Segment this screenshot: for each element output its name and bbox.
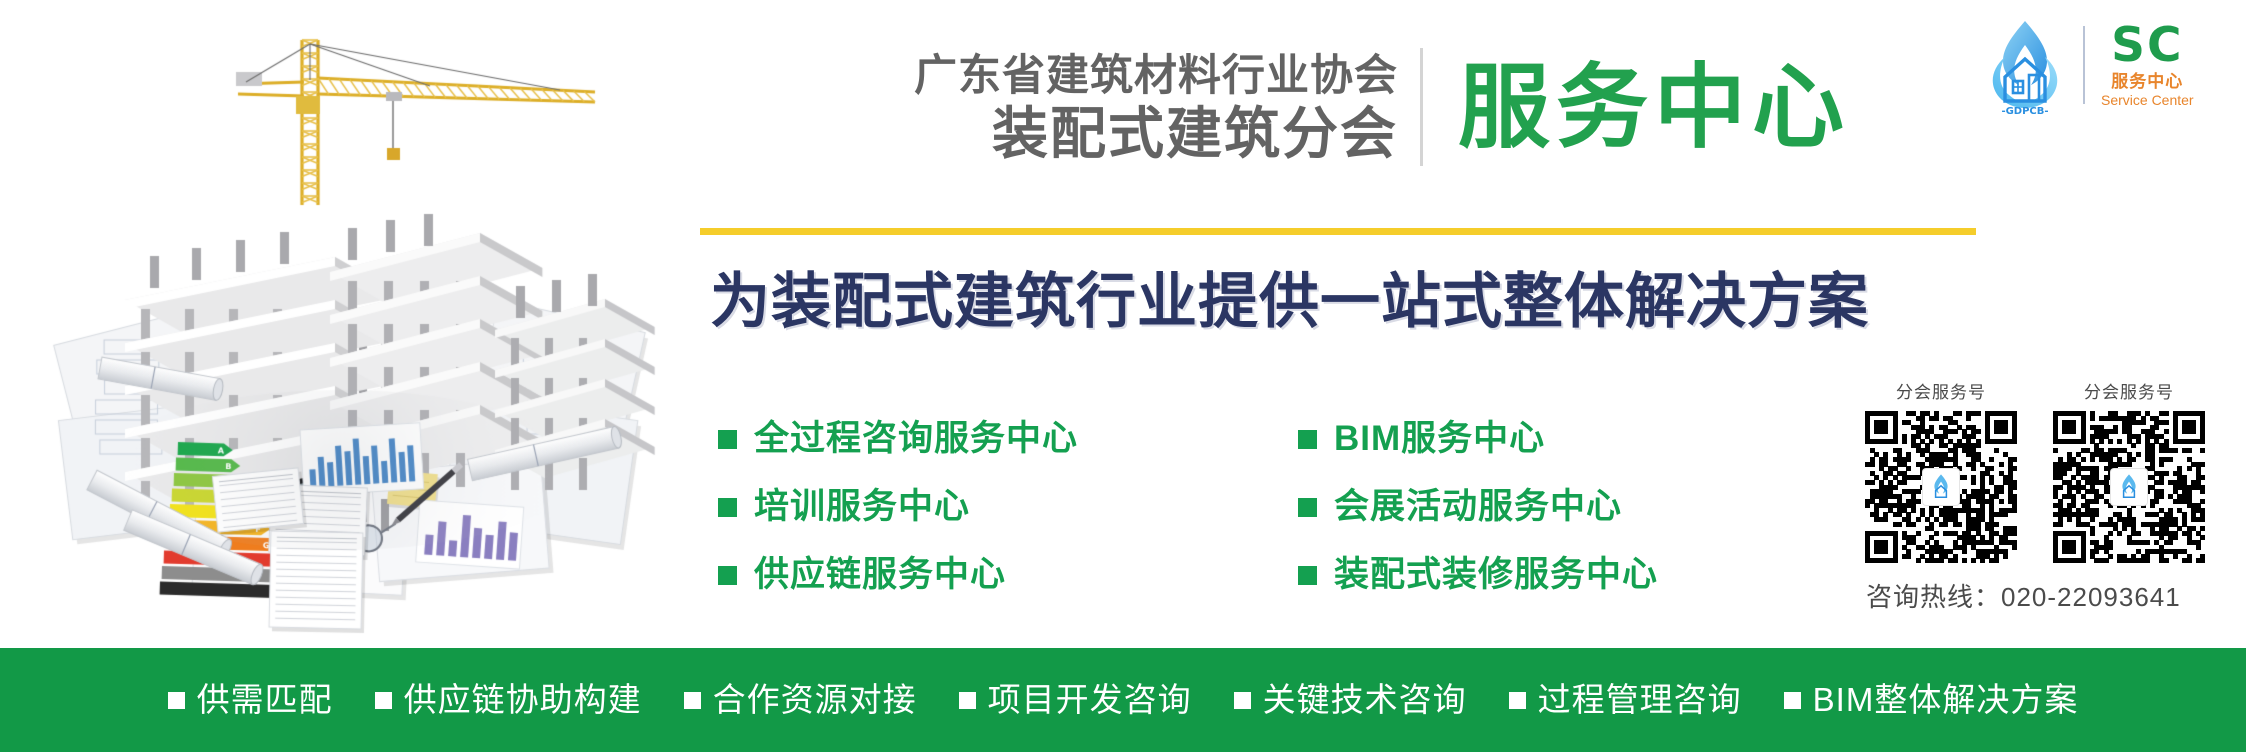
square-bullet-icon: [168, 692, 185, 709]
sc-english-label: Service Center: [2101, 93, 2194, 107]
footer-item-label: 供需匹配: [197, 681, 333, 719]
service-center-title: 服务中心: [1458, 52, 1850, 164]
service-item[interactable]: 装配式装修服务中心: [1298, 544, 1658, 606]
association-title-line2: 装配式建筑分会: [838, 102, 1398, 166]
service-item-label: 会展活动服务中心: [1334, 487, 1622, 527]
square-bullet-icon: [1298, 566, 1317, 585]
footer-item[interactable]: 关键技术咨询: [1234, 681, 1467, 719]
sc-abbreviation: SC: [2111, 22, 2183, 69]
qr-center-logo-icon: [2111, 469, 2147, 505]
qr-cell[interactable]: 分会服务号: [1862, 378, 2020, 563]
square-bullet-icon: [718, 430, 737, 449]
footer-item-label: BIM整体解决方案: [1813, 681, 2079, 719]
square-bullet-icon: [718, 498, 737, 517]
association-title: 广东省建筑材料行业协会 装配式建筑分会: [838, 50, 1398, 166]
qr-code-image[interactable]: [1865, 411, 2017, 563]
brand-logo: -GDPCB- SC 服务中心 Service Center: [1975, 12, 2230, 117]
service-list-right: BIM服务中心 会展活动服务中心 装配式装修服务中心: [1298, 408, 1658, 612]
service-item-label: BIM服务中心: [1334, 419, 1545, 459]
square-bullet-icon: [1298, 498, 1317, 517]
footer-item-label: 项目开发咨询: [988, 681, 1192, 719]
qr-caption: 分会服务号: [1896, 378, 1986, 403]
hero-canvas: [0, 0, 690, 650]
square-bullet-icon: [684, 692, 701, 709]
square-bullet-icon: [718, 566, 737, 585]
footer-item[interactable]: 供需匹配: [168, 681, 333, 719]
service-list-left: 全过程咨询服务中心 培训服务中心 供应链服务中心: [718, 408, 1078, 612]
gdpcb-flame-house-icon: -GDPCB-: [1975, 15, 2075, 115]
footer-item[interactable]: 项目开发咨询: [959, 681, 1192, 719]
gold-divider-rule: [700, 228, 1976, 235]
service-item[interactable]: 培训服务中心: [718, 476, 1078, 538]
square-bullet-icon: [1234, 692, 1251, 709]
qr-center-logo-icon: [1923, 469, 1959, 505]
gdpcb-wordmark: -GDPCB-: [2001, 106, 2048, 115]
footer-item[interactable]: 合作资源对接: [684, 681, 917, 719]
service-item-label: 培训服务中心: [754, 487, 970, 527]
qr-cell[interactable]: 分会服务号: [2050, 378, 2208, 563]
sc-lockup: SC 服务中心 Service Center: [2101, 22, 2194, 107]
footer-items: 供需匹配 供应链协助构建 合作资源对接 项目开发咨询 关键技术咨询 过程管理咨询: [147, 681, 2100, 719]
footer-service-bar: 供需匹配 供应链协助构建 合作资源对接 项目开发咨询 关键技术咨询 过程管理咨询: [0, 648, 2246, 752]
qr-row: 分会服务号 分会服务号: [1862, 378, 2228, 563]
header-divider: [1420, 48, 1423, 166]
service-item-label: 装配式装修服务中心: [1334, 555, 1658, 595]
footer-item-label: 供应链协助构建: [404, 681, 642, 719]
hero-illustration: [0, 0, 690, 650]
banner-root: 广东省建筑材料行业协会 装配式建筑分会 服务中心: [0, 0, 2246, 752]
headline-slogan: 为装配式建筑行业提供一站式整体解决方案: [710, 264, 1869, 340]
footer-item[interactable]: 供应链协助构建: [375, 681, 642, 719]
square-bullet-icon: [1784, 692, 1801, 709]
footer-item[interactable]: BIM整体解决方案: [1784, 681, 2079, 719]
square-bullet-icon: [1298, 430, 1317, 449]
qr-caption: 分会服务号: [2084, 378, 2174, 403]
footer-item[interactable]: 过程管理咨询: [1509, 681, 1742, 719]
service-item[interactable]: BIM服务中心: [1298, 408, 1658, 470]
square-bullet-icon: [1509, 692, 1526, 709]
footer-item-label: 合作资源对接: [713, 681, 917, 719]
logo-separator: [2083, 26, 2085, 104]
hotline-text: 咨询热线：020-22093641: [1862, 577, 2228, 614]
square-bullet-icon: [375, 692, 392, 709]
footer-item-label: 关键技术咨询: [1263, 681, 1467, 719]
service-item[interactable]: 全过程咨询服务中心: [718, 408, 1078, 470]
qr-contact-block: 分会服务号 分会服务号: [1862, 378, 2228, 614]
sc-chinese-label: 服务中心: [2111, 73, 2183, 90]
association-title-line1: 广东省建筑材料行业协会: [838, 50, 1398, 102]
square-bullet-icon: [959, 692, 976, 709]
service-item[interactable]: 会展活动服务中心: [1298, 476, 1658, 538]
service-item[interactable]: 供应链服务中心: [718, 544, 1078, 606]
footer-item-label: 过程管理咨询: [1538, 681, 1742, 719]
service-item-label: 全过程咨询服务中心: [754, 419, 1078, 459]
service-item-label: 供应链服务中心: [754, 555, 1006, 595]
qr-code-image[interactable]: [2053, 411, 2205, 563]
